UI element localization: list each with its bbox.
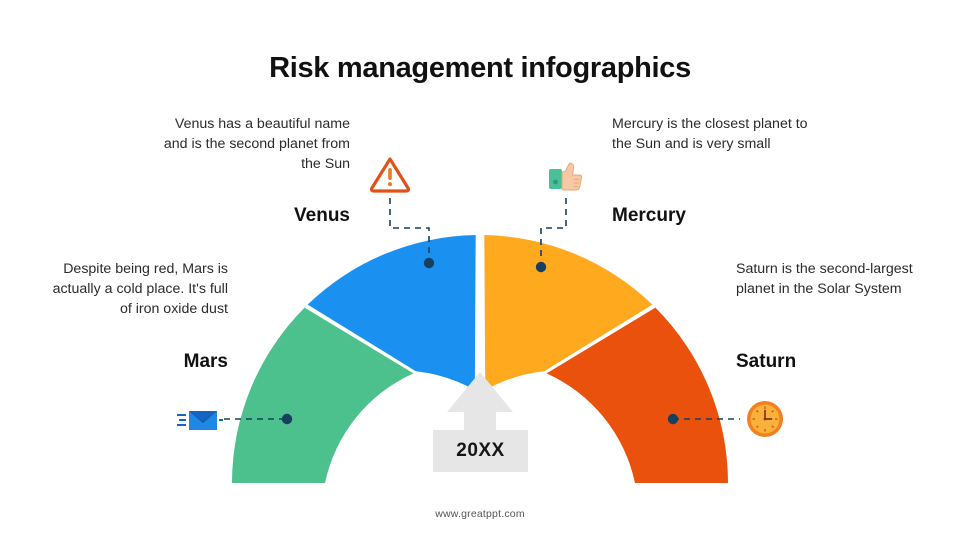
thumbs-up-icon: [545, 153, 587, 195]
saturn-label: Saturn: [736, 351, 926, 373]
mail-icon: [176, 399, 224, 441]
mercury-label: Mercury: [612, 205, 812, 227]
mercury-description: Mercury is the closest planet to the Sun…: [612, 114, 812, 154]
mars-label: Mars: [48, 351, 228, 373]
venus-description: Venus has a beautiful name and is the se…: [150, 114, 350, 174]
clock-icon: [744, 398, 786, 440]
warning-triangle-icon: [369, 153, 411, 195]
mars-description: Despite being red, Mars is actually a co…: [48, 259, 228, 319]
venus-label: Venus: [150, 205, 350, 227]
footer-url: www.greatppt.com: [0, 508, 960, 520]
saturn-description: Saturn is the second-largest planet in t…: [736, 259, 926, 299]
slide-root: Risk management infographics: [0, 0, 960, 540]
year-badge: 20XX: [433, 430, 528, 472]
